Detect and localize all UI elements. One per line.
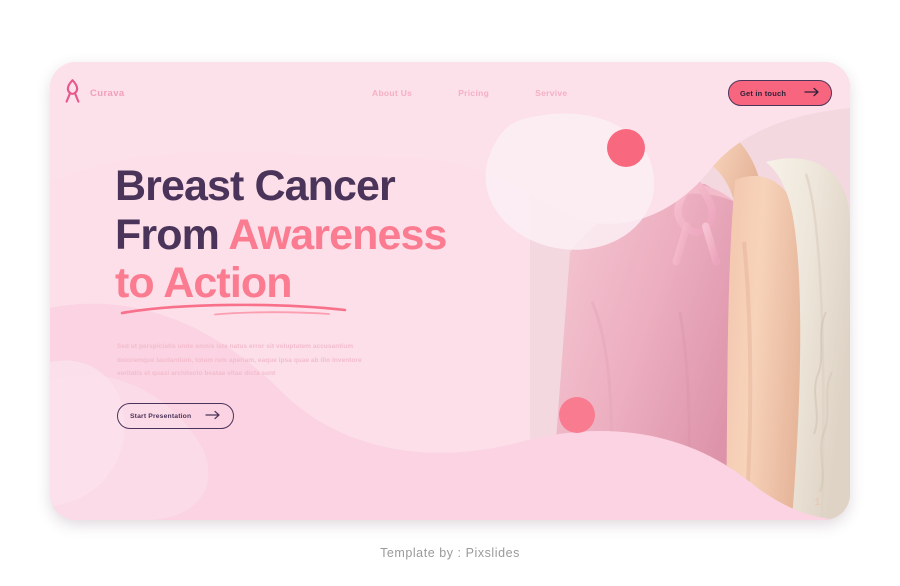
headline-line-2-dark: From: [115, 211, 219, 259]
brand-name: Curava: [90, 88, 125, 99]
presentation-slide: Curava About Us Pricing Servive Get in t…: [50, 62, 850, 520]
main-navigation: About Us Pricing Servive: [372, 88, 567, 98]
brand-logo[interactable]: Curava: [64, 78, 125, 109]
pink-ribbon-icon: [64, 78, 81, 109]
arrow-right-icon: [205, 407, 221, 425]
get-in-touch-label: Get in touch: [740, 89, 786, 98]
slide-page-number: 1: [814, 497, 820, 508]
headline-line-3: to Action: [115, 259, 535, 308]
headline-line-2: From Awareness: [115, 211, 535, 260]
arrow-right-icon: [804, 84, 820, 102]
headline-line-1: Breast Cancer: [115, 162, 535, 211]
nav-item-service[interactable]: Servive: [535, 88, 567, 98]
get-in-touch-button[interactable]: Get in touch: [728, 80, 832, 106]
nav-item-pricing[interactable]: Pricing: [458, 88, 489, 98]
headline-underline: [119, 302, 349, 318]
start-presentation-button[interactable]: Start Presentation: [117, 403, 234, 429]
template-credit: Template by : Pixslides: [0, 546, 900, 560]
start-presentation-label: Start Presentation: [130, 413, 191, 420]
hero-paragraph: Sed ut perspiciatis unde omnis iste natu…: [117, 340, 382, 381]
slide-header: Curava About Us Pricing Servive Get in t…: [50, 62, 850, 132]
headline-line-2-accent: Awareness: [228, 211, 446, 259]
nav-item-about-us[interactable]: About Us: [372, 88, 412, 98]
hero-content: Breast Cancer From Awareness to Action S…: [115, 162, 535, 429]
